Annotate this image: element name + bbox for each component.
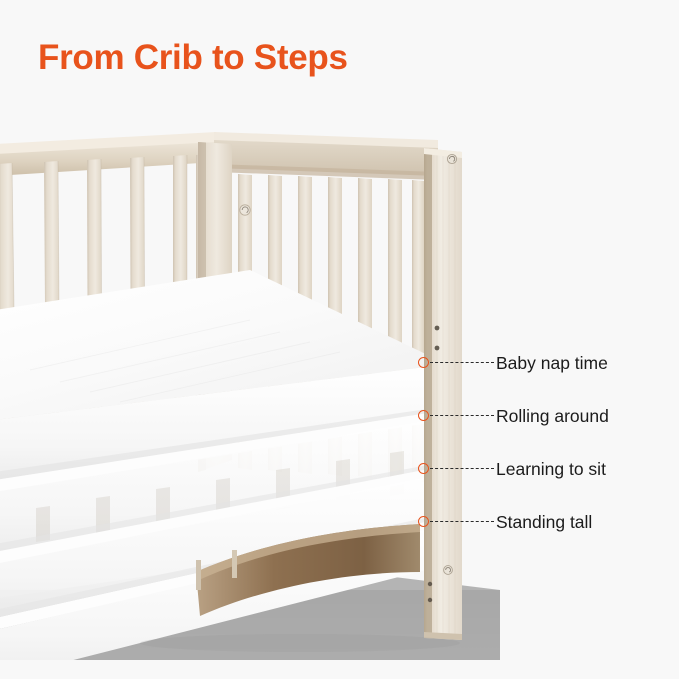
callout-marker-icon (418, 516, 429, 527)
screw-cap-icon (447, 154, 456, 163)
screw-cap-icon (240, 205, 250, 215)
crib-illustration (0, 120, 500, 660)
callout-leader-line (430, 521, 494, 522)
callout-leader-line (430, 468, 494, 469)
page-title: From Crib to Steps (38, 38, 348, 78)
product-infographic: From Crib to Steps (0, 0, 679, 679)
callout-3[interactable]: Standing tall (418, 511, 679, 535)
callout-2[interactable]: Learning to sit (418, 458, 679, 482)
callout-marker-icon (418, 357, 429, 368)
callout-leader-line (430, 415, 494, 416)
callout-marker-icon (418, 463, 429, 474)
callout-1[interactable]: Rolling around (418, 405, 679, 429)
callout-label: Learning to sit (496, 458, 606, 480)
callout-label: Baby nap time (496, 352, 608, 374)
crib-product-photo (0, 120, 500, 660)
callout-label: Standing tall (496, 511, 592, 533)
callout-label: Rolling around (496, 405, 609, 427)
screw-cap-icon (444, 566, 453, 575)
callout-marker-icon (418, 410, 429, 421)
callout-0[interactable]: Baby nap time (418, 352, 679, 376)
callout-leader-line (430, 362, 494, 363)
